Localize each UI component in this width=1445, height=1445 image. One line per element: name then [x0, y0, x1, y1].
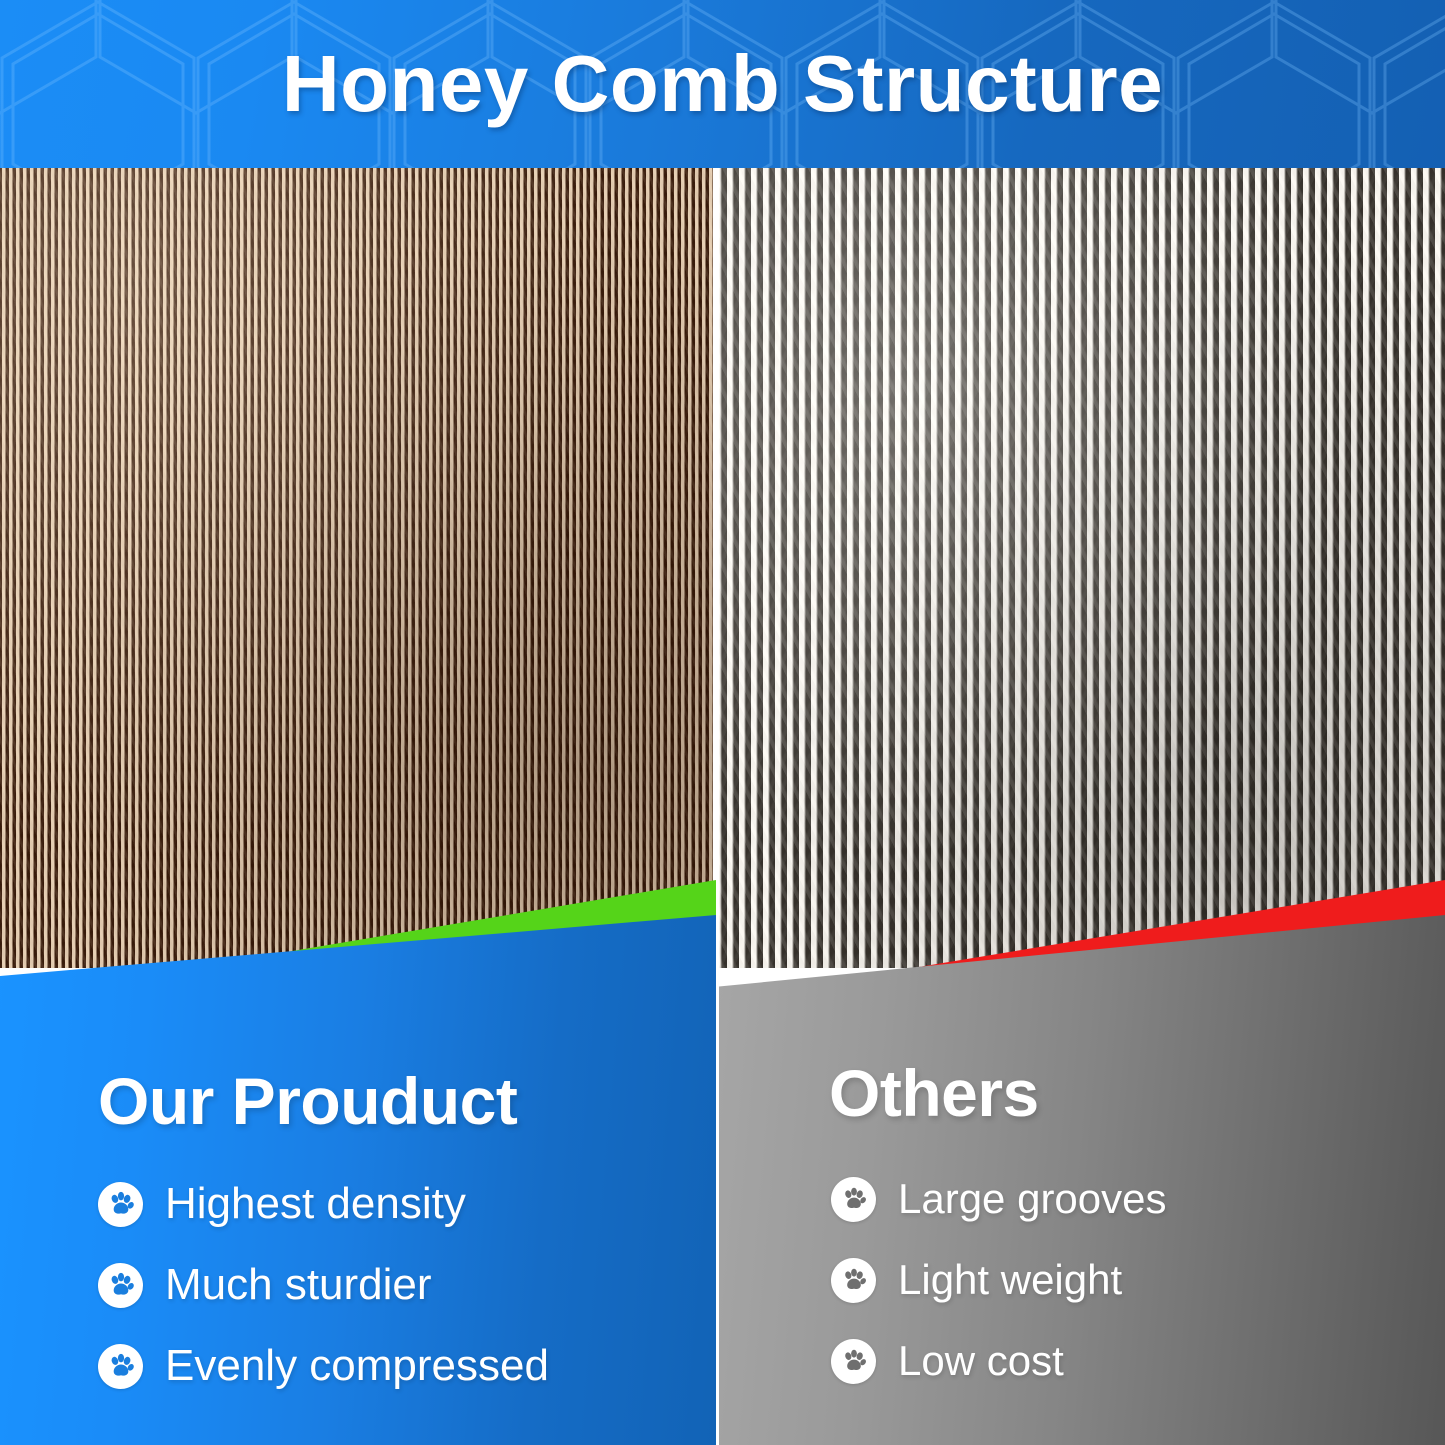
- feature-label: Low cost: [898, 1340, 1064, 1382]
- feature-label: Much sturdier: [165, 1263, 432, 1307]
- list-item: Low cost: [831, 1335, 1167, 1387]
- list-item: Light weight: [831, 1254, 1167, 1306]
- paw-icon: [831, 1339, 876, 1384]
- list-item: Evenly compressed: [98, 1340, 549, 1392]
- page-title: Honey Comb Structure: [0, 0, 1445, 168]
- paw-icon: [831, 1258, 876, 1303]
- feature-label: Large grooves: [898, 1178, 1167, 1220]
- photo-comparison-area: [0, 168, 1445, 968]
- photo-divider: [713, 168, 719, 968]
- header-banner: Honey Comb Structure: [0, 0, 1445, 168]
- others-feature-list: Large grooves Light weight: [831, 1173, 1167, 1416]
- feature-label: Evenly compressed: [165, 1344, 549, 1388]
- others-panel: Others Large grooves: [719, 915, 1445, 1445]
- our-product-title: Our Prouduct: [98, 1068, 517, 1134]
- feature-label: Light weight: [898, 1259, 1122, 1301]
- list-item: Much sturdier: [98, 1259, 549, 1311]
- dense-cardboard-texture: [0, 168, 713, 968]
- list-item: Highest density: [98, 1178, 549, 1230]
- paw-icon: [831, 1177, 876, 1222]
- list-item: Large grooves: [831, 1173, 1167, 1225]
- paw-icon: [98, 1263, 143, 1308]
- infographic-root: Honey Comb Structure ✓ ✕ Our Prouduct: [0, 0, 1445, 1445]
- our-product-panel: Our Prouduct Highest density: [0, 915, 716, 1445]
- product-photo-right: [719, 168, 1445, 968]
- paw-icon: [98, 1344, 143, 1389]
- our-product-feature-list: Highest density Much sturdier: [98, 1178, 549, 1421]
- paw-icon: [98, 1182, 143, 1227]
- loose-cardboard-texture: [719, 168, 1445, 968]
- feature-label: Highest density: [165, 1182, 466, 1226]
- others-title: Others: [829, 1060, 1039, 1126]
- product-photo-left: [0, 168, 713, 968]
